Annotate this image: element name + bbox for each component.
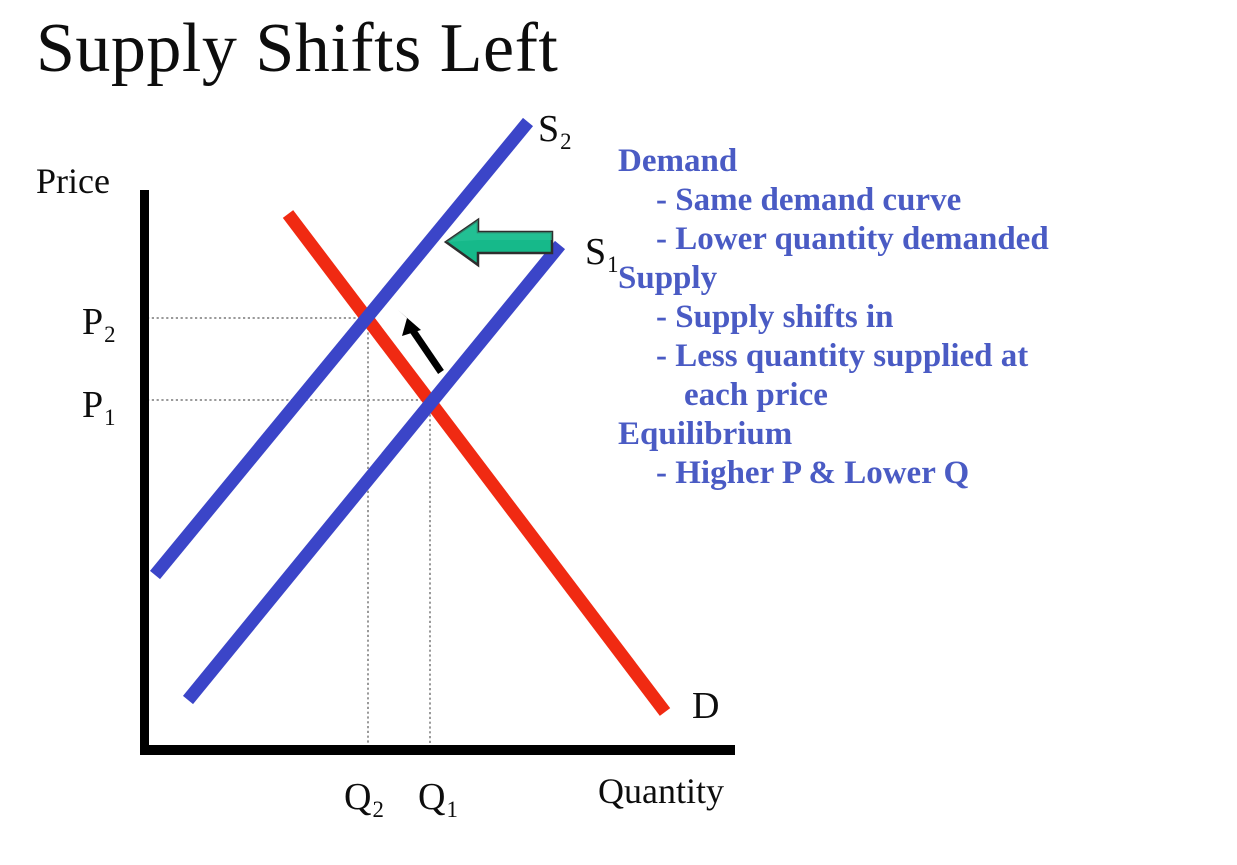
quantity-tick-q2-subscript: 2	[371, 797, 383, 822]
notes-heading-equilibrium: Equilibrium	[618, 415, 1230, 454]
x-axis	[140, 745, 735, 755]
notes-bullet-demand-1: - Same demand curve	[618, 181, 1230, 220]
notes-bullet-equilibrium-1: - Higher P & Lower Q	[618, 454, 1230, 493]
curve-label-s1-base: S	[585, 231, 606, 273]
price-tick-p2-base: P	[82, 301, 103, 343]
price-tick-p2-subscript: 2	[103, 322, 115, 347]
quantity-tick-q1: Q1	[418, 778, 458, 816]
curve-label-s2-base: S	[538, 108, 559, 150]
quantity-tick-q1-subscript: 1	[445, 797, 457, 822]
slide-canvas: Supply Shifts Left Price Quantity P2	[0, 0, 1237, 865]
x-axis-label: Quantity	[598, 773, 724, 809]
curve-label-s2-subscript: 2	[559, 129, 571, 154]
curve-label-s2: S2	[538, 110, 572, 148]
notes-panel: Demand - Same demand curve - Lower quant…	[618, 142, 1230, 493]
notes-bullet-demand-2: - Lower quantity demanded	[618, 220, 1230, 259]
notes-heading-supply: Supply	[618, 259, 1230, 298]
curve-label-d: D	[692, 687, 719, 725]
quantity-tick-q2-base: Q	[344, 776, 371, 818]
quantity-tick-q2: Q2	[344, 778, 384, 816]
curve-label-s1: S1	[585, 233, 619, 271]
demand-curve	[288, 214, 665, 712]
notes-bullet-supply-1: - Supply shifts in	[618, 298, 1230, 337]
price-tick-p1-subscript: 1	[103, 405, 115, 430]
notes-bullet-supply-2-continued: each price	[618, 376, 1230, 415]
quantity-tick-q1-base: Q	[418, 776, 445, 818]
y-axis-label: Price	[36, 163, 110, 199]
notes-bullet-supply-2: - Less quantity supplied at	[618, 337, 1230, 376]
notes-heading-demand: Demand	[618, 142, 1230, 181]
shift-left-block-arrow	[446, 220, 552, 265]
price-tick-p1: P1	[82, 386, 116, 424]
price-tick-p2: P2	[82, 303, 116, 341]
y-axis	[140, 190, 149, 754]
price-tick-p1-base: P	[82, 384, 103, 426]
curve-label-s1-subscript: 1	[606, 252, 618, 277]
